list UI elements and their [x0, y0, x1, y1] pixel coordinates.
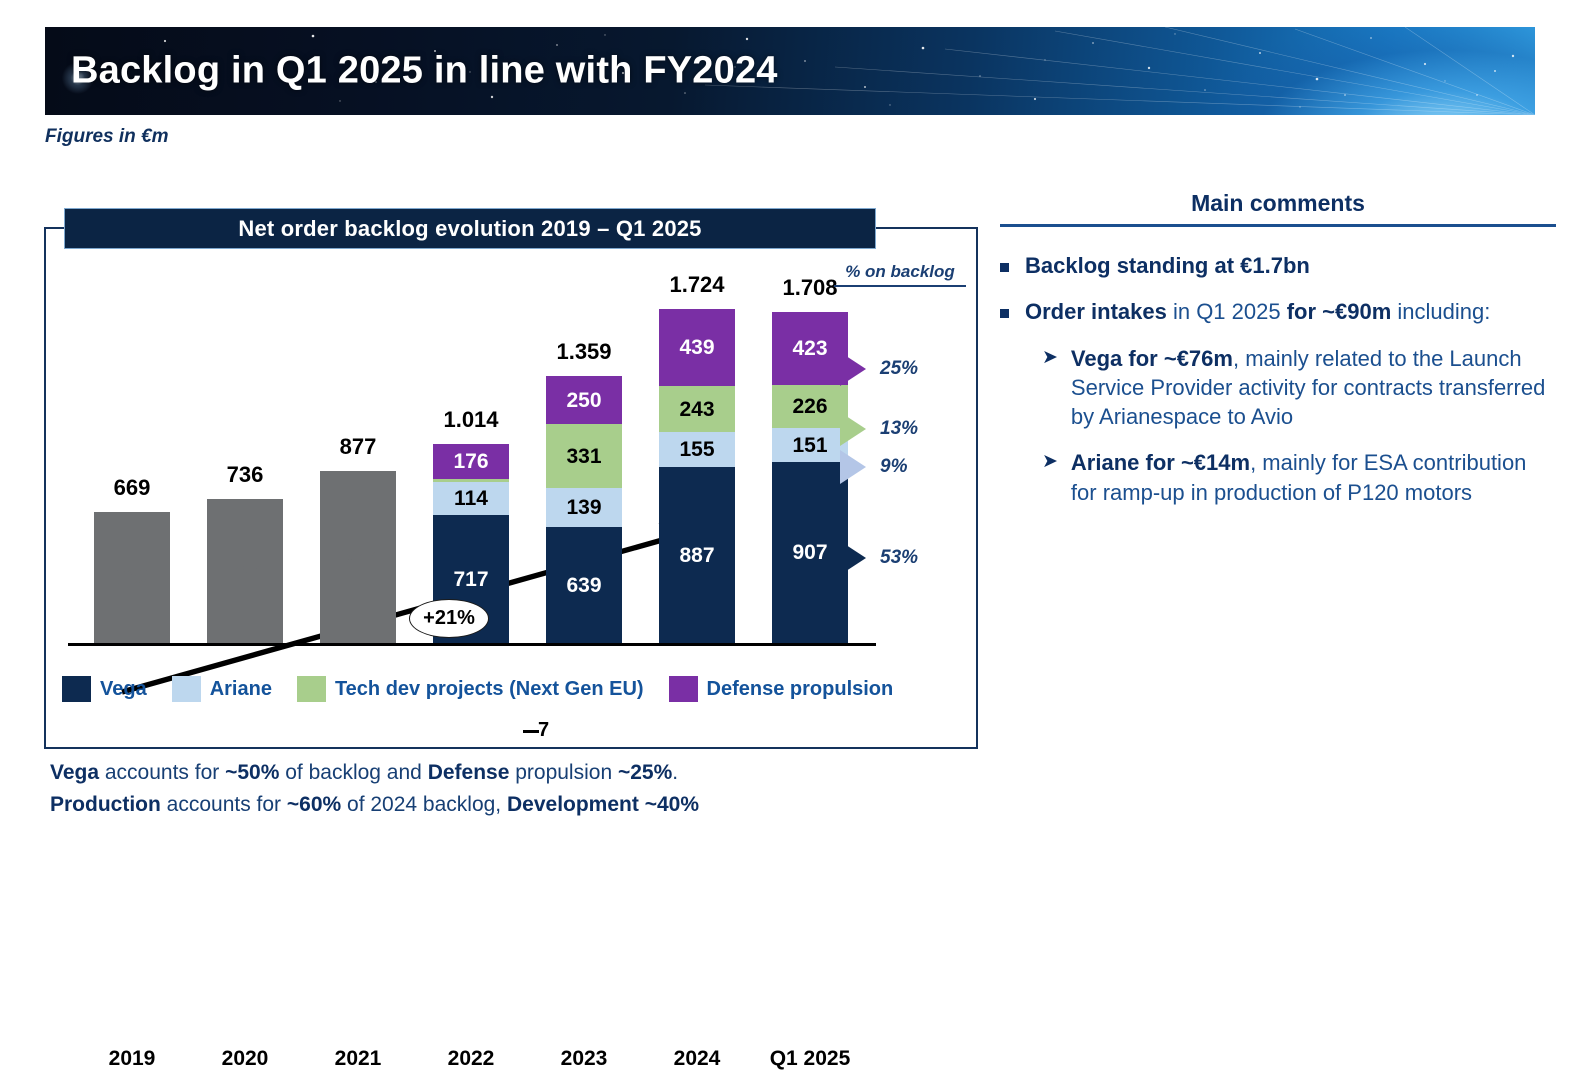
legend-item-vega[interactable]: Vega: [62, 676, 147, 702]
legend-swatch-icon: [669, 676, 698, 702]
x-axis-label: 2022: [411, 1047, 531, 1071]
bar-total-label: 1.014: [411, 407, 531, 433]
bar-segment-label: 155: [679, 439, 714, 460]
legend-swatch-icon: [62, 676, 91, 702]
bar-segment-label: 139: [566, 497, 601, 518]
pct-row-techdev: 13%: [840, 412, 918, 446]
triangle-marker-icon: [840, 352, 866, 386]
bar-segment-label: 226: [792, 396, 827, 417]
bar-segment-ariane[interactable]: 151: [772, 428, 848, 462]
bar-segment-label: 907: [792, 542, 827, 563]
bar-segment-label: 717: [453, 569, 488, 590]
bar-segment-defense[interactable]: 423: [772, 312, 848, 385]
bar-segment-defense[interactable]: 439: [659, 309, 735, 386]
bar-segment-label: 439: [679, 337, 714, 358]
pct-row-vega: 53%: [840, 541, 918, 575]
legend-item-defense[interactable]: Defense propulsion: [669, 676, 894, 702]
bar-segment-label: 877: [340, 547, 375, 568]
legend-swatch-icon: [297, 676, 326, 702]
callout-value-7: 7: [538, 719, 549, 742]
x-axis-line: [68, 643, 876, 646]
bar-total-label: 877: [298, 434, 418, 460]
bar-segment-label: 176: [453, 451, 488, 472]
pct-value: 9%: [880, 456, 907, 478]
bar-segment-vega[interactable]: 639: [546, 527, 622, 643]
bar-total-label: 1.359: [524, 339, 644, 365]
comment-bullet-backlog: Backlog standing at €1.7bn: [1000, 251, 1556, 280]
footer-notes: Vega accounts for ~50% of backlog and De…: [50, 757, 1000, 820]
growth-rate-value: +21%: [423, 607, 475, 630]
footer-line-1: Vega accounts for ~50% of backlog and De…: [50, 757, 1000, 789]
bar-segment-vega[interactable]: 887: [659, 467, 735, 643]
bar-segment-label: 151: [792, 435, 827, 456]
pct-row-ariane: 9%: [840, 450, 907, 484]
bar-segment-techdev[interactable]: 226: [772, 385, 848, 428]
chart-legend: Vega Ariane Tech dev projects (Next Gen …: [62, 676, 907, 702]
bar-segment-defense[interactable]: 176: [433, 444, 509, 479]
x-axis-label: 2021: [298, 1047, 418, 1071]
bar-segment-total[interactable]: 877: [320, 471, 396, 643]
chart-title-box: Net order backlog evolution 2019 – Q1 20…: [64, 208, 876, 249]
pct-on-backlog-header: % on backlog: [834, 262, 966, 287]
legend-label: Tech dev projects (Next Gen EU): [335, 678, 644, 701]
x-axis-label: 2019: [72, 1047, 192, 1071]
chart-plot-area: +21% 669 669 2019 736 736 2020 877 877 2…: [44, 247, 974, 745]
bar-segment-techdev[interactable]: 243: [659, 386, 735, 432]
bar-segment-label: 887: [679, 545, 714, 566]
comment-subbullet-ariane: ➤ Ariane for ~€14m, mainly for ESA contr…: [1042, 448, 1556, 507]
x-axis-label: 2020: [185, 1047, 305, 1071]
arrow-bullet-icon: ➤: [1042, 344, 1058, 372]
comment-subbullet-vega: ➤ Vega for ~€76m, mainly related to the …: [1042, 344, 1556, 432]
pct-value: 53%: [880, 547, 918, 569]
triangle-marker-icon: [840, 450, 866, 484]
comment-text: Ariane for ~€14m, mainly for ESA contrib…: [1071, 448, 1556, 507]
legend-label: Ariane: [210, 678, 272, 701]
arrow-bullet-icon: ➤: [1042, 448, 1058, 476]
bar-segment-label: 423: [792, 338, 827, 359]
bar-segment-label: 250: [566, 390, 601, 411]
bar-segment-total[interactable]: 736: [207, 499, 283, 643]
x-axis-label: Q1 2025: [750, 1047, 870, 1071]
pct-row-defense: 25%: [840, 352, 918, 386]
page-title: Backlog in Q1 2025 in line with FY2024: [71, 50, 778, 93]
bar-segment-label: 736: [227, 561, 262, 582]
comments-divider: [1000, 224, 1556, 227]
square-bullet-icon: [1000, 263, 1009, 272]
bar-segment-total[interactable]: 669: [94, 512, 170, 643]
bar-segment-label: 243: [679, 399, 714, 420]
pct-value: 13%: [880, 418, 918, 440]
header-banner: Backlog in Q1 2025 in line with FY2024: [45, 27, 1535, 115]
legend-label: Vega: [100, 678, 147, 701]
growth-rate-badge: +21%: [409, 599, 489, 638]
comment-text: Vega for ~€76m, mainly related to the La…: [1071, 344, 1556, 432]
main-comments-panel: Main comments Backlog standing at €1.7bn…: [1000, 190, 1556, 524]
triangle-marker-icon: [840, 412, 866, 446]
pct-value: 25%: [880, 358, 918, 380]
comment-text: Order intakes in Q1 2025 for ~€90m inclu…: [1025, 297, 1490, 326]
legend-item-techdev[interactable]: Tech dev projects (Next Gen EU): [297, 676, 644, 702]
square-bullet-icon: [1000, 309, 1009, 318]
triangle-marker-icon: [840, 541, 866, 575]
bar-segment-label: 669: [114, 567, 149, 588]
comment-text: Backlog standing at €1.7bn: [1025, 251, 1310, 280]
bar-total-label: 669: [72, 475, 192, 501]
chart-title: Net order backlog evolution 2019 – Q1 20…: [238, 216, 701, 242]
bar-total-label: 736: [185, 462, 305, 488]
bar-segment-defense[interactable]: 250: [546, 376, 622, 424]
bar-segment-label: 331: [566, 446, 601, 467]
figures-unit-note: Figures in €m: [45, 126, 169, 148]
legend-item-ariane[interactable]: Ariane: [172, 676, 272, 702]
callout-leader-line: [523, 730, 539, 733]
bar-segment-label: 639: [566, 575, 601, 596]
bar-segment-label: 114: [454, 488, 488, 509]
bar-segment-ariane[interactable]: 139: [546, 488, 622, 527]
bar-segment-techdev[interactable]: 331: [546, 424, 622, 488]
footer-line-2: Production accounts for ~60% of 2024 bac…: [50, 789, 1000, 821]
bar-segment-ariane[interactable]: 114: [433, 482, 509, 515]
bar-total-label: 1.724: [637, 272, 757, 298]
bar-segment-vega[interactable]: 907: [772, 462, 848, 643]
legend-swatch-icon: [172, 676, 201, 702]
comment-bullet-order-intakes: Order intakes in Q1 2025 for ~€90m inclu…: [1000, 297, 1556, 326]
bar-segment-ariane[interactable]: 155: [659, 432, 735, 467]
x-axis-label: 2023: [524, 1047, 644, 1071]
main-comments-title: Main comments: [1000, 190, 1556, 224]
legend-label: Defense propulsion: [707, 678, 894, 701]
x-axis-label: 2024: [637, 1047, 757, 1071]
